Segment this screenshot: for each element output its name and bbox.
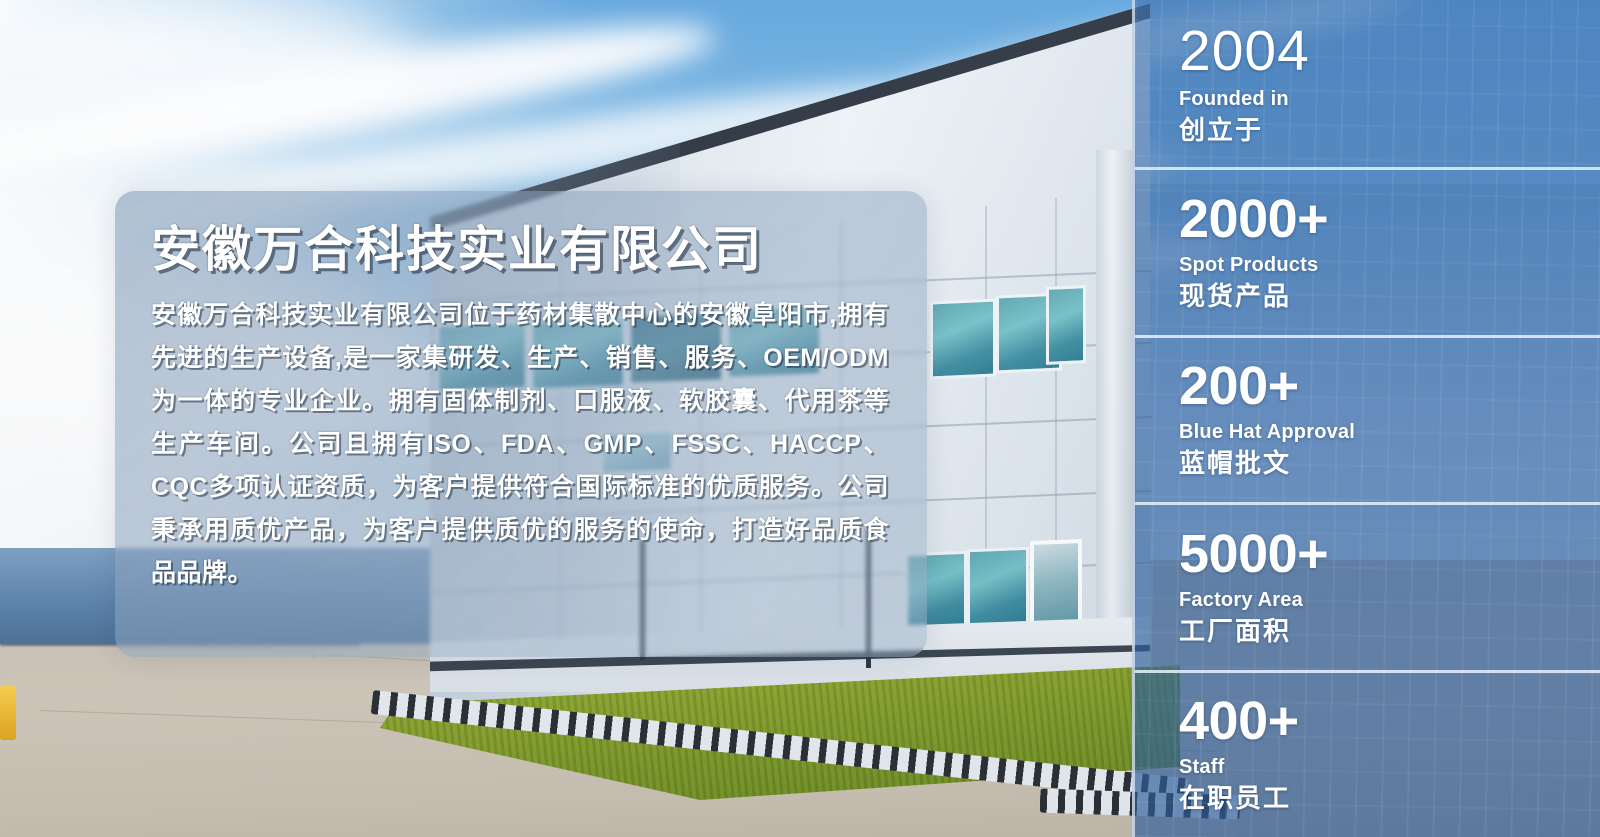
stat-label-en: Factory Area	[1179, 590, 1600, 610]
stat-label-cn: 工厂面积	[1179, 618, 1600, 645]
stat-value: 2004	[1179, 23, 1600, 80]
company-title: 安徽万合科技实业有限公司	[151, 223, 889, 278]
stat-item-founded: 2004 Founded in 创立于	[1135, 0, 1600, 167]
factory-window	[967, 547, 1029, 628]
stat-item-blue-hat-approval: 200+ Blue Hat Approval 蓝帽批文	[1135, 335, 1600, 502]
stat-value: 2000+	[1179, 192, 1600, 246]
cloud	[0, 0, 420, 120]
company-stats-panel: 2004 Founded in 创立于 2000+ Spot Products …	[1132, 0, 1600, 837]
stat-item-spot-products: 2000+ Spot Products 现货产品	[1135, 167, 1600, 334]
stat-value: 400+	[1179, 694, 1600, 748]
stat-value: 5000+	[1179, 527, 1600, 581]
stat-label-en: Blue Hat Approval	[1179, 422, 1600, 442]
stat-label-cn: 在职员工	[1179, 785, 1600, 812]
stat-value: 200+	[1179, 359, 1600, 413]
factory-window	[1046, 285, 1086, 365]
stat-item-staff: 400+ Staff 在职员工	[1135, 670, 1600, 837]
factory-window	[930, 299, 996, 380]
stat-label-cn: 蓝帽批文	[1179, 450, 1600, 477]
yellow-bollard	[0, 686, 16, 740]
company-info-panel: 安徽万合科技实业有限公司 安徽万合科技实业有限公司位于药材集散中心的安徽阜阳市,…	[115, 191, 927, 657]
hero-banner: 安徽万合科技实业有限公司 安徽万合科技实业有限公司位于药材集散中心的安徽阜阳市,…	[0, 0, 1600, 837]
stat-item-factory-area: 5000+ Factory Area 工厂面积	[1135, 502, 1600, 669]
stat-label-cn: 创立于	[1179, 117, 1600, 144]
stat-label-en: Staff	[1179, 757, 1600, 777]
company-description: 安徽万合科技实业有限公司位于药材集散中心的安徽阜阳市,拥有先进的生产设备,是一家…	[151, 294, 889, 595]
stat-label-cn: 现货产品	[1179, 283, 1600, 310]
stat-label-en: Spot Products	[1179, 255, 1600, 275]
stat-label-en: Founded in	[1179, 89, 1600, 109]
